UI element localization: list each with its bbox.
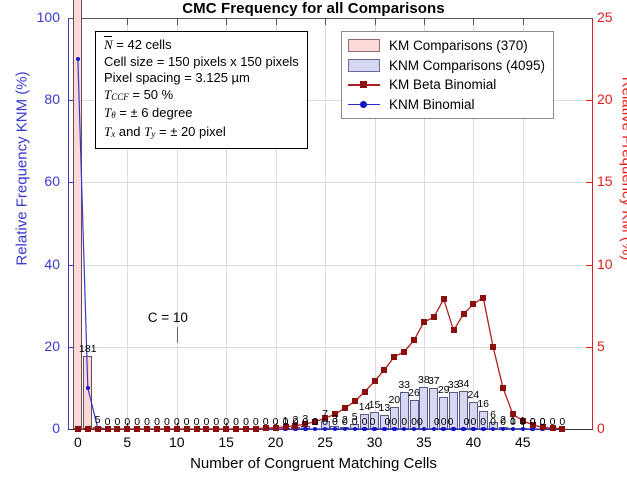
x-axis-tick-label: 15 <box>206 434 246 450</box>
marker-km-beta-binomial <box>431 314 437 320</box>
left-axis-tick-label: 100 <box>0 9 60 25</box>
marker-km-beta-binomial <box>391 354 397 360</box>
legend-item-knm-comparisons[interactable]: KNM Comparisons (4095) <box>348 56 545 76</box>
legend-line-km-square-icon <box>348 78 380 91</box>
right-axis-tick-label: 15 <box>597 173 613 189</box>
marker-km-beta-binomial <box>75 426 81 432</box>
legend-label-knm-binomial: KNM Binomial <box>389 95 475 115</box>
marker-km-beta-binomial <box>441 296 447 302</box>
top-axis-tick-mark <box>226 19 227 25</box>
x-axis-tick-label: 0 <box>58 434 98 450</box>
info-line-t-theta: Tθ = ± 6 degree <box>104 105 299 124</box>
x-axis-title: Number of Congruent Matching Cells <box>0 455 627 472</box>
x-axis-tick-label: 20 <box>256 434 296 450</box>
info-line-t-xy: Tx and Ty = ± 20 pixel <box>104 124 299 143</box>
left-axis-tick-label: 0 <box>0 420 60 436</box>
chart-title: CMC Frequency for all Comparisons <box>0 0 627 17</box>
right-axis-tick-label: 5 <box>597 338 605 354</box>
bar-km <box>73 0 82 429</box>
info-line-t-ccf: TCCF = 50 % <box>104 87 299 106</box>
right-axis-tick-label: 10 <box>597 256 613 272</box>
marker-km-beta-binomial <box>480 295 486 301</box>
chart-figure: CMC Frequency for all Comparisons 020406… <box>0 0 627 480</box>
left-axis-tick-label: 20 <box>0 338 60 354</box>
gridline-horizontal <box>68 347 592 348</box>
marker-km-beta-binomial <box>470 301 476 307</box>
right-axis-title: Relative Frequency KM (%) <box>619 54 627 284</box>
gridline-horizontal <box>68 182 592 183</box>
marker-km-beta-binomial <box>421 319 427 325</box>
gridline-horizontal <box>68 265 592 266</box>
right-axis-line <box>592 18 593 430</box>
parameters-info-box: N = 42 cells Cell size = 150 pixels x 15… <box>95 31 308 149</box>
x-axis-tick-label: 10 <box>157 434 197 450</box>
info-line-pixel-spacing: Pixel spacing = 3.125 µm <box>104 70 299 87</box>
marker-km-beta-binomial <box>85 426 91 432</box>
legend-label-km-beta-binomial: KM Beta Binomial <box>389 75 496 95</box>
x-axis-tick-label: 30 <box>355 434 395 450</box>
top-axis-tick-mark <box>375 19 376 25</box>
legend-label-knm-comparisons: KNM Comparisons (4095) <box>389 56 545 76</box>
legend-item-knm-binomial[interactable]: KNM Binomial <box>348 95 545 115</box>
marker-km-beta-binomial <box>500 385 506 391</box>
x-axis-tick-label: 45 <box>503 434 543 450</box>
marker-km-beta-binomial <box>461 311 467 317</box>
marker-km-beta-binomial <box>372 378 378 384</box>
x-axis-tick-label: 25 <box>305 434 345 450</box>
marker-km-beta-binomial <box>451 327 457 333</box>
annotation-pointer-line <box>177 327 178 343</box>
marker-km-beta-binomial <box>401 349 407 355</box>
right-axis-tick-label: 25 <box>597 9 613 25</box>
marker-km-beta-binomial <box>381 367 387 373</box>
top-axis-tick-mark <box>276 19 277 25</box>
legend-swatch-km-icon <box>348 39 380 52</box>
top-axis-tick-mark <box>325 19 326 25</box>
annotation-c-equals-10: C = 10 <box>148 310 188 325</box>
marker-km-beta-binomial <box>411 337 417 343</box>
bar-value-label: 26 <box>400 387 428 399</box>
info-line-n-cells: N = 42 cells <box>104 37 299 54</box>
marker-km-beta-binomial <box>490 344 496 350</box>
top-axis-tick-mark <box>523 19 524 25</box>
top-axis-tick-mark <box>424 19 425 25</box>
right-axis-tick-label: 0 <box>597 420 605 436</box>
legend-item-km-comparisons[interactable]: KM Comparisons (370) <box>348 36 545 56</box>
top-axis-tick-mark <box>473 19 474 25</box>
top-axis-tick-mark <box>127 19 128 25</box>
legend-swatch-knm-icon <box>348 59 380 72</box>
left-axis-title: Relative Frequency KNM (%) <box>14 54 31 284</box>
top-axis-line <box>68 18 593 19</box>
gridline-vertical <box>325 18 326 429</box>
x-axis-tick-label: 40 <box>453 434 493 450</box>
marker-knm-binomial <box>86 386 91 391</box>
right-axis-tick-label: 20 <box>597 91 613 107</box>
legend-label-km-comparisons: KM Comparisons (370) <box>389 36 528 56</box>
x-axis-tick-label: 35 <box>404 434 444 450</box>
chart-legend[interactable]: KM Comparisons (370) KNM Comparisons (40… <box>341 31 554 119</box>
marker-km-beta-binomial <box>362 389 368 395</box>
bar-value-label: 181 <box>74 343 102 355</box>
legend-item-km-beta-binomial[interactable]: KM Beta Binomial <box>348 75 545 95</box>
info-line-cell-size: Cell size = 150 pixels x 150 pixels <box>104 54 299 71</box>
top-axis-tick-mark <box>177 19 178 25</box>
legend-line-knm-circle-icon <box>348 98 380 111</box>
bar-value-label: 0 <box>548 416 576 428</box>
x-axis-tick-label: 5 <box>107 434 147 450</box>
left-axis-line <box>68 18 69 430</box>
